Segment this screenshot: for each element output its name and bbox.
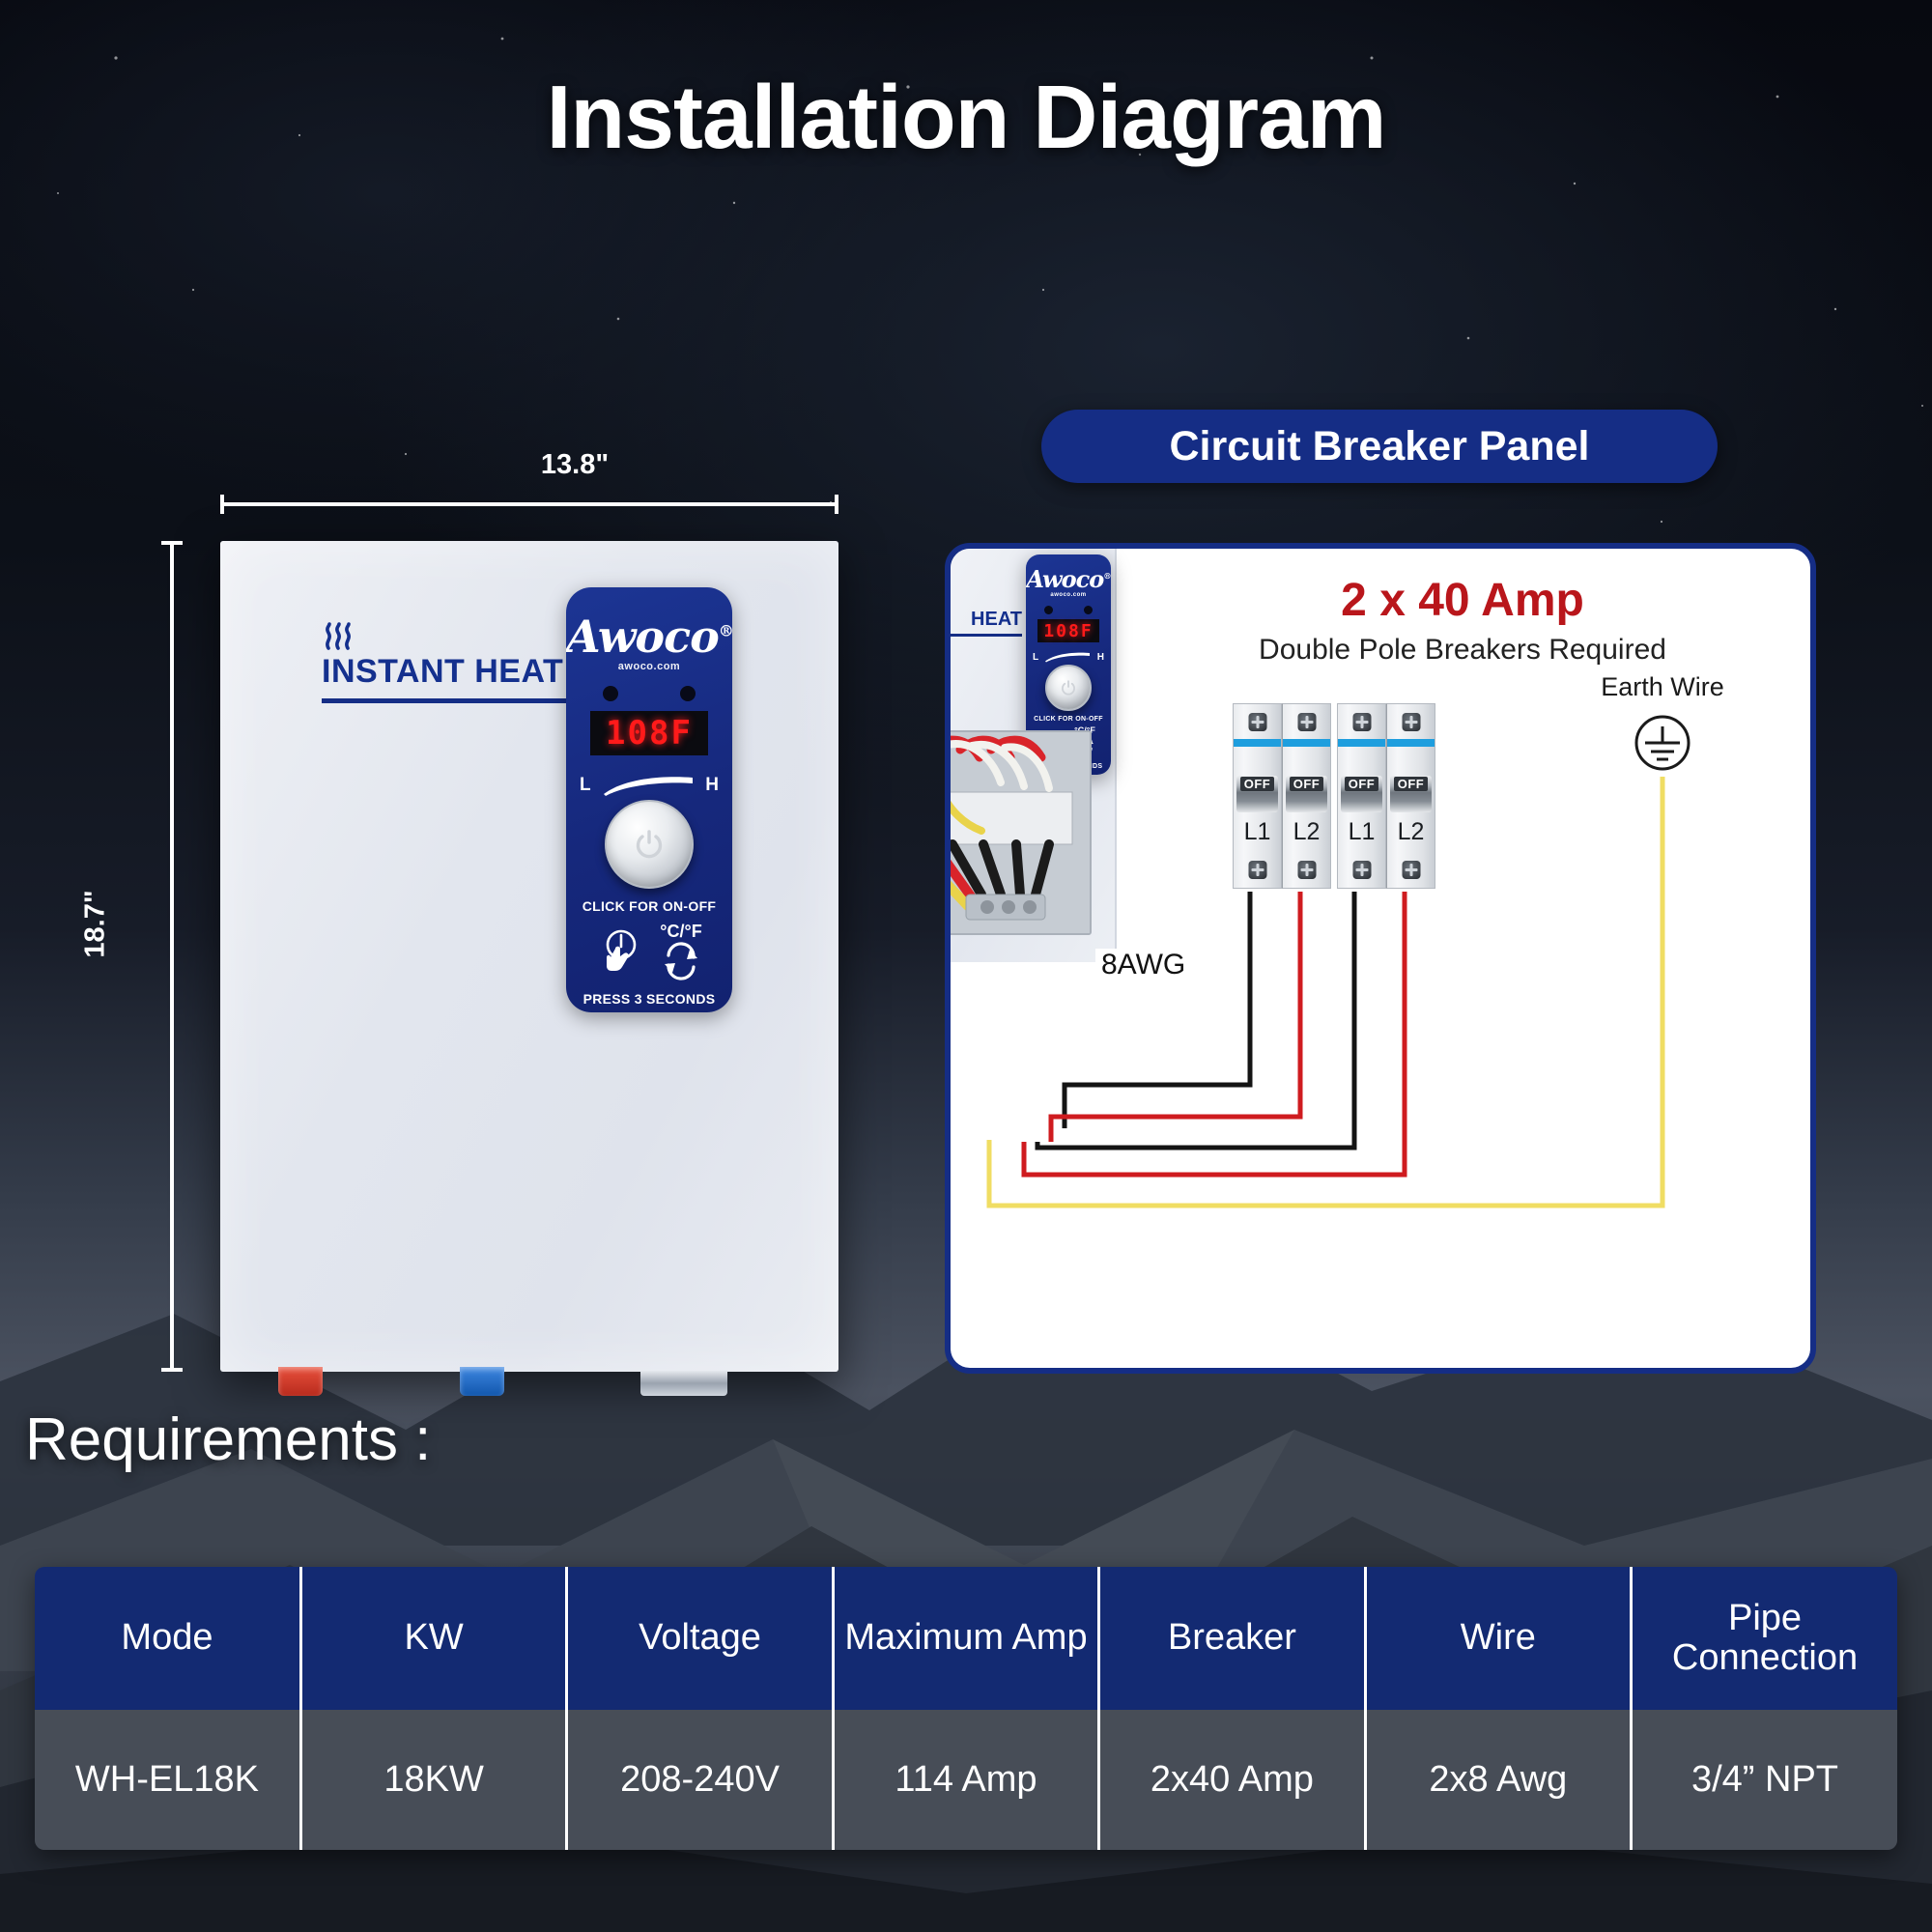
dial-arc-icon [602, 775, 695, 796]
column-header-voltage: Voltage [567, 1567, 833, 1710]
awoco-wordmark: Awoco [566, 611, 719, 663]
column-header-breaker: Breaker [1099, 1567, 1365, 1710]
column-header-mode: Mode [35, 1567, 300, 1710]
table-row: WH-EL18K 18KW 208-240V 114 Amp 2x40 Amp … [35, 1710, 1897, 1850]
height-dimension-line [159, 541, 185, 1372]
led-indicator-left [603, 686, 618, 701]
column-header-wire: Wire [1365, 1567, 1631, 1710]
instant-heat-brand: INSTANT HEAT [322, 620, 602, 703]
unit-toggle-group: °C/°F [660, 922, 701, 985]
water-heater-unit: INSTANT HEAT Awoco® awoco.com 108F L H [220, 541, 838, 1372]
registered-trademark-icon: ® [719, 622, 732, 640]
height-dimension-label: 18.7" [80, 890, 112, 957]
power-knob[interactable] [605, 800, 694, 889]
column-header-pipe-connection: Pipe Connection [1632, 1567, 1897, 1710]
cell-mode: WH-EL18K [35, 1710, 300, 1850]
column-header-maximum-amp: Maximum Amp [833, 1567, 1098, 1710]
pipe-fitting [640, 1371, 727, 1396]
power-icon [633, 828, 666, 861]
requirements-table: Mode KW Voltage Maximum Amp Breaker Wire… [35, 1567, 1897, 1850]
low-high-scale: L H [580, 775, 719, 796]
low-label: L [580, 775, 591, 796]
hot-water-port [278, 1367, 323, 1396]
awoco-url: awoco.com [566, 661, 732, 672]
circuit-breaker-panel-title: Circuit Breaker Panel [1041, 410, 1718, 483]
heat-wave-icon [322, 620, 355, 653]
cold-water-port [460, 1367, 504, 1396]
cell-wire: 2x8 Awg [1365, 1710, 1631, 1850]
awoco-logo: Awoco® [566, 614, 732, 659]
requirements-heading: Requirements : [25, 1406, 431, 1474]
instant-heat-label: INSTANT HEAT [322, 653, 563, 691]
cycle-arrows-icon [661, 942, 701, 980]
width-dimension-label: 13.8" [488, 449, 662, 481]
high-label: H [705, 775, 719, 796]
cell-breaker: 2x40 Amp [1099, 1710, 1365, 1850]
mode-icons-row: °C/°F [566, 922, 732, 985]
column-header-kw: KW [300, 1567, 566, 1710]
wire-gauge-label: 8AWG [1095, 949, 1191, 981]
celsius-fahrenheit-label: °C/°F [660, 922, 701, 942]
led-indicator-right [680, 686, 696, 701]
control-panel[interactable]: Awoco® awoco.com 108F L H CLICK FOR ON [566, 587, 732, 1012]
led-indicators [566, 686, 732, 701]
temperature-value: 108F [606, 714, 693, 753]
press-3-seconds-caption: PRESS 3 SECONDS [566, 991, 732, 1007]
width-dimension-line [220, 493, 838, 516]
circuit-breaker-panel-label: Circuit Breaker Panel [1170, 423, 1590, 470]
press-hand-icon [596, 925, 652, 981]
page-title: Installation Diagram [0, 66, 1932, 169]
click-for-onoff-caption: CLICK FOR ON-OFF [566, 898, 732, 914]
table-header-row: Mode KW Voltage Maximum Amp Breaker Wire… [35, 1567, 1897, 1710]
wiring-diagram [951, 549, 1816, 1374]
cell-voltage: 208-240V [567, 1710, 833, 1850]
cell-pipe-connection: 3/4” NPT [1632, 1710, 1897, 1850]
circuit-breaker-diagram-card: HEAT Awoco® awoco.com 108F L [945, 543, 1816, 1374]
cell-maximum-amp: 114 Amp [833, 1710, 1098, 1850]
temperature-display: 108F [590, 711, 708, 755]
cell-kw: 18KW [300, 1710, 566, 1850]
